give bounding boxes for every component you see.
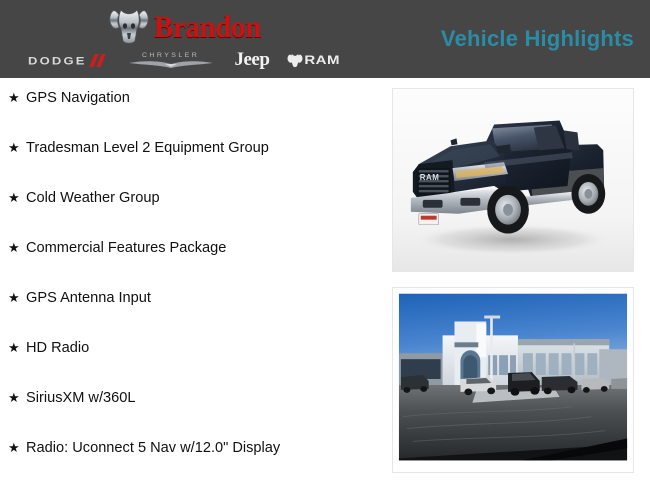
chrysler-logo-icon: CHRYSLER <box>125 52 217 69</box>
dodge-logo-label: DODGE <box>28 54 87 67</box>
jeep-logo-icon: Jeep <box>234 50 269 70</box>
feature-label: Commercial Features Package <box>26 241 226 256</box>
list-item: ★ SiriusXM w/360L <box>0 391 382 441</box>
dealer-logo: Brandon <box>108 6 268 46</box>
star-bullet-icon: ★ <box>8 441 26 454</box>
dealer-brand-block: Brandon DODGE CHRYSLER Jeep <box>0 0 345 78</box>
feature-label: Cold Weather Group <box>26 191 160 206</box>
feature-label: GPS Antenna Input <box>26 291 151 306</box>
vehicle-media-column: RAM <box>390 78 636 488</box>
chrysler-logo-label: CHRYSLER <box>142 52 199 58</box>
chrysler-wing-icon <box>127 60 215 69</box>
vehicle-highlights-page: Brandon DODGE CHRYSLER Jeep <box>0 0 650 488</box>
jeep-logo-label: Jeep <box>234 49 269 70</box>
star-bullet-icon: ★ <box>8 391 26 404</box>
vehicle-features-list: ★ GPS Navigation ★ Tradesman Level 2 Equ… <box>0 78 382 488</box>
rear-wheel <box>572 174 606 214</box>
dodge-slash-icon <box>89 54 107 67</box>
star-bullet-icon: ★ <box>8 91 26 104</box>
ram-logo-label: RAM <box>304 54 340 66</box>
brand-logo-row: DODGE CHRYSLER Jeep <box>28 48 340 72</box>
page-title: Vehicle Highlights <box>441 0 634 78</box>
ram-grille-badge: RAM <box>420 173 440 182</box>
star-bullet-icon: ★ <box>8 291 26 304</box>
feature-label: HD Radio <box>26 341 89 356</box>
feature-label: Tradesman Level 2 Equipment Group <box>26 141 269 156</box>
feature-label: Radio: Uconnect 5 Nav w/12.0" Display <box>26 441 280 456</box>
feature-label: SiriusXM w/360L <box>26 391 136 406</box>
ram-head-icon <box>108 7 150 45</box>
star-bullet-icon: ★ <box>8 341 26 354</box>
front-wheel <box>487 186 529 234</box>
dealer-name: Brandon <box>154 11 261 42</box>
list-item: ★ Cold Weather Group <box>0 191 382 241</box>
list-item: ★ HD Radio <box>0 341 382 391</box>
feature-label: GPS Navigation <box>26 91 130 106</box>
list-item: ★ GPS Antenna Input <box>0 291 382 341</box>
dodge-logo-icon: DODGE <box>28 53 107 68</box>
ram-head-small-icon <box>287 53 303 68</box>
star-bullet-icon: ★ <box>8 191 26 204</box>
vehicle-photo[interactable]: RAM <box>392 88 634 272</box>
list-item: ★ Radio: Uconnect 5 Nav w/12.0" Display <box>0 441 382 491</box>
ram-logo-icon: RAM <box>287 53 340 68</box>
star-bullet-icon: ★ <box>8 241 26 254</box>
star-bullet-icon: ★ <box>8 141 26 154</box>
page-header: Brandon DODGE CHRYSLER Jeep <box>0 0 650 78</box>
list-item: ★ GPS Navigation <box>0 91 382 141</box>
list-item: ★ Commercial Features Package <box>0 241 382 291</box>
dealership-photo[interactable] <box>392 287 634 473</box>
list-item: ★ Tradesman Level 2 Equipment Group <box>0 141 382 191</box>
page-content: ★ GPS Navigation ★ Tradesman Level 2 Equ… <box>0 78 650 488</box>
